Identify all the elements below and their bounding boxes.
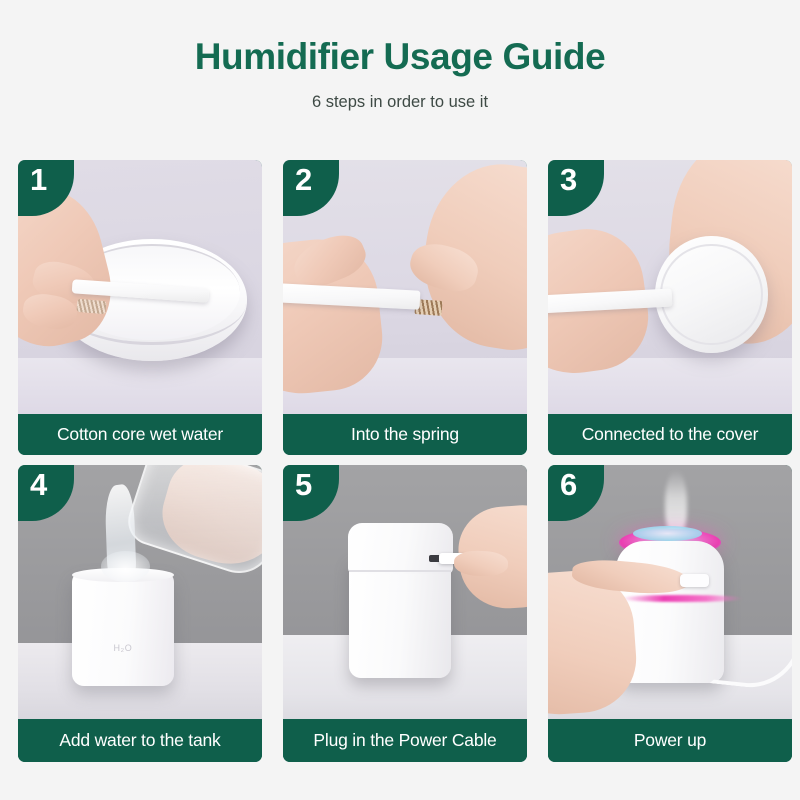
step-caption-3: Connected to the cover — [548, 414, 792, 455]
step-caption-6: Power up — [548, 719, 792, 762]
step-photo-2: 2 — [283, 160, 527, 414]
step-photo-1: 1 — [18, 160, 262, 414]
infographic-page: Humidifier Usage Guide 6 steps in order … — [0, 0, 800, 800]
table-surface-1 — [18, 358, 262, 414]
step-caption-2: Into the spring — [283, 414, 527, 455]
led-ring-highlight — [633, 526, 701, 541]
humidifier-body — [349, 556, 451, 678]
step-card-2[interactable]: 2 Into the spring — [283, 160, 527, 455]
tank-h2o-label: H₂O — [96, 643, 150, 653]
water-splash — [101, 551, 150, 581]
water-tank — [72, 572, 174, 686]
step-card-4[interactable]: H₂O 4 Add water to the tank — [18, 465, 262, 762]
step-card-5[interactable]: 5 Plug in the Power Cable — [283, 465, 527, 762]
step-caption-1: Cotton core wet water — [18, 414, 262, 455]
step-photo-3: 3 — [548, 160, 792, 414]
steps-grid: 1 Cotton core wet water 2 Into the sprin… — [18, 160, 792, 762]
humidifier-lid — [348, 523, 453, 574]
step-caption-4: Add water to the tank — [18, 719, 262, 762]
step-caption-5: Plug in the Power Cable — [283, 719, 527, 762]
step-card-1[interactable]: 1 Cotton core wet water — [18, 160, 262, 455]
wick-spring — [76, 298, 106, 313]
page-subtitle: 6 steps in order to use it — [0, 93, 800, 112]
step-photo-5: 5 — [283, 465, 527, 719]
step-card-3[interactable]: 3 Connected to the cover — [548, 160, 792, 455]
step-card-6[interactable]: 6 Power up — [548, 465, 792, 762]
header: Humidifier Usage Guide 6 steps in order … — [0, 0, 800, 112]
power-button[interactable] — [680, 574, 709, 587]
step-photo-4: H₂O 4 — [18, 465, 262, 719]
humidifier-seam — [349, 570, 451, 572]
page-title: Humidifier Usage Guide — [0, 38, 800, 77]
humidifier-cover-rim — [660, 244, 762, 346]
step-photo-6: 6 — [548, 465, 792, 719]
